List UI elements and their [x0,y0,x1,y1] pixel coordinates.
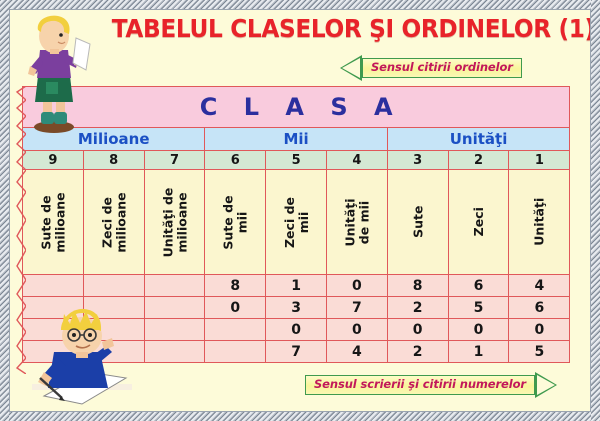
digit-cell: 6 [509,297,570,319]
digit-cell: 2 [387,341,448,363]
callout-writing-reading-numbers: Sensul scrierii şi citirii numerelor [305,372,557,398]
digit-cell: 0 [448,319,509,341]
order-number-cell: 6 [205,151,266,170]
digit-cell: 7 [266,341,327,363]
order-name-label: Sute [411,206,425,238]
digit-cell: 8 [387,275,448,297]
frame-left [0,0,9,421]
digit-cell: 5 [448,297,509,319]
callout-reading-orders-label: Sensul citirii ordinelor [362,58,522,79]
order-name-cell: Unităţi demilioane [144,170,205,275]
frame-bottom [0,412,600,421]
digit-cell [23,297,84,319]
order-name-cell: Sute demilioane [23,170,84,275]
digit-cell: 0 [509,319,570,341]
class-header-mii: Mii [205,128,387,151]
classes-and-orders-table: C L A S A MilioaneMiiUnităţi 987654321 S… [22,86,569,363]
table-row: 00000 [23,319,570,341]
table-row-clasa-banner: C L A S A [23,87,570,128]
digit-cell: 2 [387,297,448,319]
digit-cell: 1 [266,275,327,297]
order-name-cell: Sute demii [205,170,266,275]
order-name-label: Unităţi demilioane [161,187,188,257]
arrow-right-icon [535,372,557,398]
digit-cell [83,297,144,319]
order-number-cell: 9 [23,151,84,170]
class-header-unităţi: Unităţi [387,128,570,151]
frame-top [0,0,600,9]
poster-root: TABELUL CLASELOR ŞI ORDINELOR (1) Sensul… [0,0,600,421]
order-name-cell: Zeci demii [266,170,327,275]
table-row-order-names: Sute demilioaneZeci demilioaneUnităţi de… [23,170,570,275]
page-title: TABELUL CLASELOR ŞI ORDINELOR (1) [112,12,531,46]
digit-cell: 4 [509,275,570,297]
digit-cell: 0 [266,319,327,341]
order-name-label: Zeci demii [283,196,310,247]
digit-cell [23,319,84,341]
digit-cell: 6 [448,275,509,297]
order-name-cell: Unităţi [509,170,570,275]
digit-cell [23,341,84,363]
digit-cell: 1 [448,341,509,363]
digit-cell [144,341,205,363]
order-name-cell: Unităţide mii [326,170,387,275]
callout-writing-reading-numbers-label: Sensul scrierii şi citirii numerelor [305,375,535,396]
table-row-class-names: MilioaneMiiUnităţi [23,128,570,151]
digit-cell: 7 [326,297,387,319]
order-name-label: Zeci demilioane [100,192,127,252]
order-name-cell: Zeci [448,170,509,275]
digit-cell [205,319,266,341]
digit-cell: 0 [326,275,387,297]
digit-cell [83,341,144,363]
digit-cell: 8 [205,275,266,297]
digit-cell [83,319,144,341]
digit-cell [144,319,205,341]
arrow-left-icon [340,55,362,81]
order-number-cell: 4 [326,151,387,170]
digit-cell: 0 [205,297,266,319]
digit-cell: 5 [509,341,570,363]
digit-cell: 0 [326,319,387,341]
digit-cell [23,275,84,297]
class-header-milioane: Milioane [23,128,205,151]
digit-cell [144,297,205,319]
order-number-cell: 7 [144,151,205,170]
digit-cell [83,275,144,297]
digit-cell [205,341,266,363]
clasa-banner: C L A S A [23,87,570,128]
order-name-cell: Zeci demilioane [83,170,144,275]
order-name-cell: Sute [387,170,448,275]
order-name-label: Sute demilioane [39,192,66,252]
digit-cell: 4 [326,341,387,363]
order-number-cell: 8 [83,151,144,170]
order-name-label: Zeci [472,207,486,236]
digit-cell: 0 [387,319,448,341]
order-name-label: Unităţi [533,198,547,246]
callout-reading-orders: Sensul citirii ordinelor [340,55,522,81]
digit-cell: 3 [266,297,327,319]
order-name-label: Sute demii [222,195,249,249]
order-number-cell: 3 [387,151,448,170]
order-number-cell: 1 [509,151,570,170]
order-number-cell: 2 [448,151,509,170]
frame-right [591,0,600,421]
table-row-order-numbers: 987654321 [23,151,570,170]
order-name-label: Unităţide mii [343,198,370,246]
order-number-cell: 5 [266,151,327,170]
table-row: 74215 [23,341,570,363]
digit-cell [144,275,205,297]
table-row: 810864 [23,275,570,297]
table-row: 037256 [23,297,570,319]
